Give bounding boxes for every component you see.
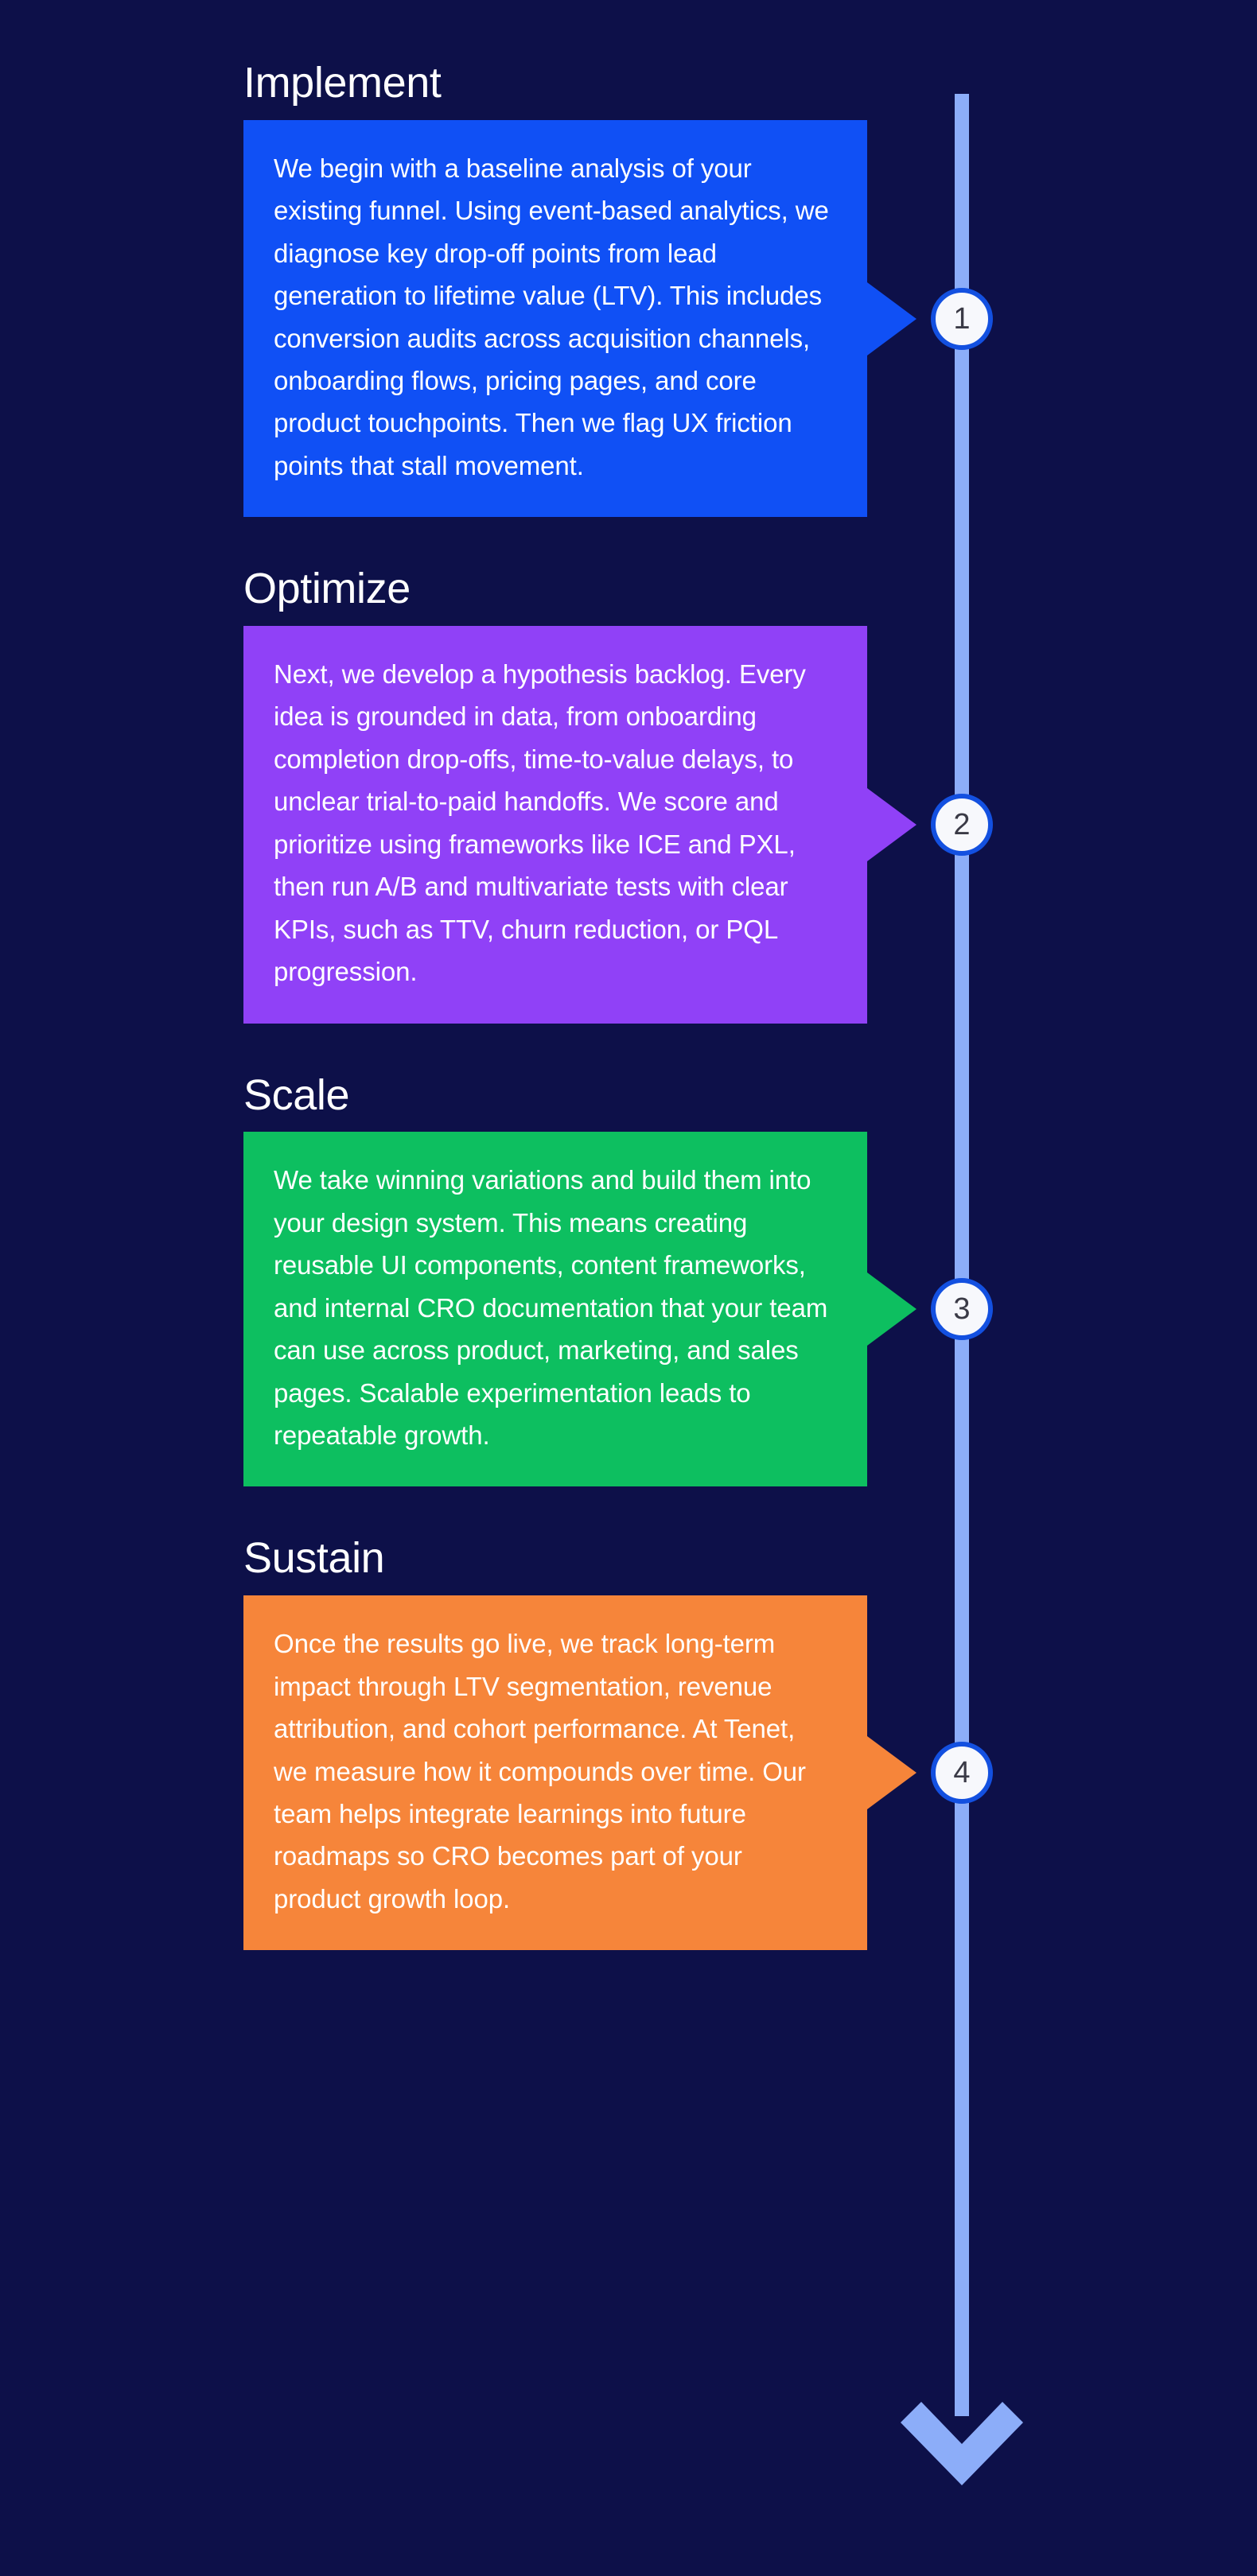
step-card[interactable]: We begin with a baseline analysis of you… <box>243 120 867 518</box>
step-node-number: 3 <box>953 1294 970 1324</box>
card-pointer-icon <box>867 282 916 356</box>
step-body-text: Next, we develop a hypothesis backlog. E… <box>274 659 806 986</box>
step-node-number: 2 <box>953 810 970 840</box>
step-card-wrap: We take winning variations and build the… <box>243 1132 867 1486</box>
timeline-step: Optimize Next, we develop a hypothesis b… <box>0 566 1257 1023</box>
step-node-number: 1 <box>953 304 970 334</box>
step-card-wrap: We begin with a baseline analysis of you… <box>243 120 867 518</box>
step-title: Scale <box>0 1073 1257 1118</box>
step-title: Implement <box>0 60 1257 106</box>
step-node-2[interactable]: 2 <box>931 794 993 856</box>
card-pointer-icon <box>867 1736 916 1809</box>
step-card[interactable]: Next, we develop a hypothesis backlog. E… <box>243 626 867 1024</box>
card-pointer-icon <box>867 1272 916 1346</box>
step-node-1[interactable]: 1 <box>931 288 993 350</box>
step-card[interactable]: Once the results go live, we track long-… <box>243 1595 867 1950</box>
step-body-text: Once the results go live, we track long-… <box>274 1629 806 1914</box>
timeline-step: Scale We take winning variations and bui… <box>0 1073 1257 1487</box>
step-title: Optimize <box>0 566 1257 612</box>
step-node-number: 4 <box>953 1758 970 1788</box>
timeline-step: Implement We begin with a baseline analy… <box>0 60 1257 517</box>
card-pointer-icon <box>867 788 916 861</box>
down-arrow-icon <box>894 2370 1029 2485</box>
step-title: Sustain <box>0 1536 1257 1581</box>
timeline-step: Sustain Once the results go live, we tra… <box>0 1536 1257 1950</box>
step-card[interactable]: We take winning variations and build the… <box>243 1132 867 1486</box>
step-body-text: We take winning variations and build the… <box>274 1165 827 1450</box>
steps-list: Implement We begin with a baseline analy… <box>0 0 1257 1950</box>
step-node-4[interactable]: 4 <box>931 1742 993 1804</box>
step-body-text: We begin with a baseline analysis of you… <box>274 153 829 480</box>
step-card-wrap: Once the results go live, we track long-… <box>243 1595 867 1950</box>
step-card-wrap: Next, we develop a hypothesis backlog. E… <box>243 626 867 1024</box>
timeline-diagram: Implement We begin with a baseline analy… <box>0 0 1257 2576</box>
step-node-3[interactable]: 3 <box>931 1278 993 1340</box>
